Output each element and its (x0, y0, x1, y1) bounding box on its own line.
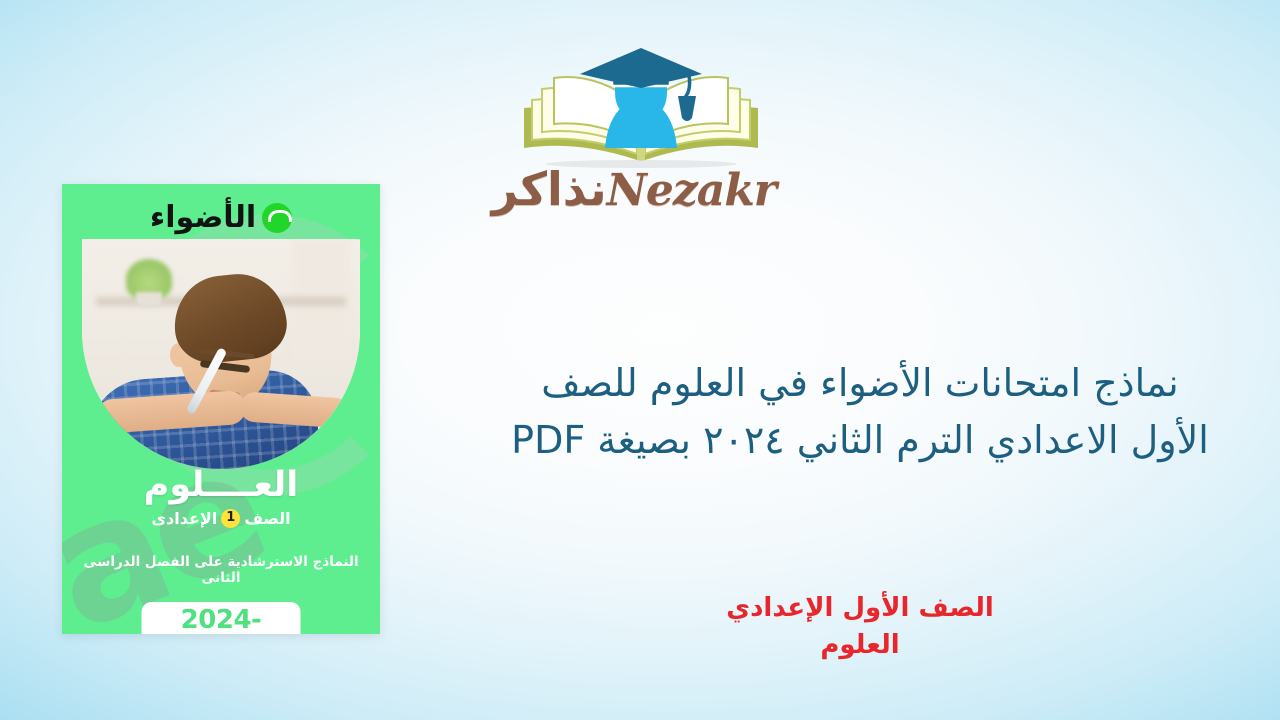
logo-wordmark-latin: Nezakr (607, 165, 776, 216)
graduation-book-logo-icon (506, 44, 776, 174)
cover-grade-prefix: الصف (244, 509, 290, 528)
cover-grade-number-badge: 1 (221, 509, 240, 528)
cover-grade: الصف 1 الإعدادى (62, 509, 380, 528)
cover-line-1: النماذج الاسترشادية على الفصل الدراسى ال… (62, 554, 380, 586)
meta-grade: الصف الأول الإعدادي (600, 590, 1120, 627)
article-meta: الصف الأول الإعدادي العلوم (600, 590, 1120, 664)
green-circle-arc-icon (262, 203, 292, 233)
book-cover-image[interactable]: ae الأضواء (62, 184, 380, 634)
cover-publisher: الأضواء (62, 196, 380, 240)
cover-year-badge: 2024-2023 (142, 602, 301, 634)
page-title: نماذج امتحانات الأضواء في العلوم للصف ال… (500, 355, 1220, 467)
cover-photo (82, 239, 360, 469)
cover-publisher-name: الأضواء (150, 203, 256, 233)
photo-plant-pot (136, 292, 162, 306)
logo-wordmark-arabic: نذاكر (492, 162, 607, 216)
thumbnail-stage: Nezakrنذاكر نماذج امتحانات الأضواء في ال… (0, 0, 1280, 720)
cover-photo-scene (82, 239, 360, 469)
meta-subject: العلوم (600, 627, 1120, 664)
logo-wordmark: Nezakrنذاكر (506, 166, 776, 213)
site-logo[interactable]: Nezakrنذاكر (506, 44, 776, 234)
cover-subject: العــــلوم (62, 466, 380, 505)
cover-grade-suffix: الإعدادى (151, 509, 217, 528)
cover-title-block: العــــلوم الصف 1 الإعدادى (62, 466, 380, 528)
